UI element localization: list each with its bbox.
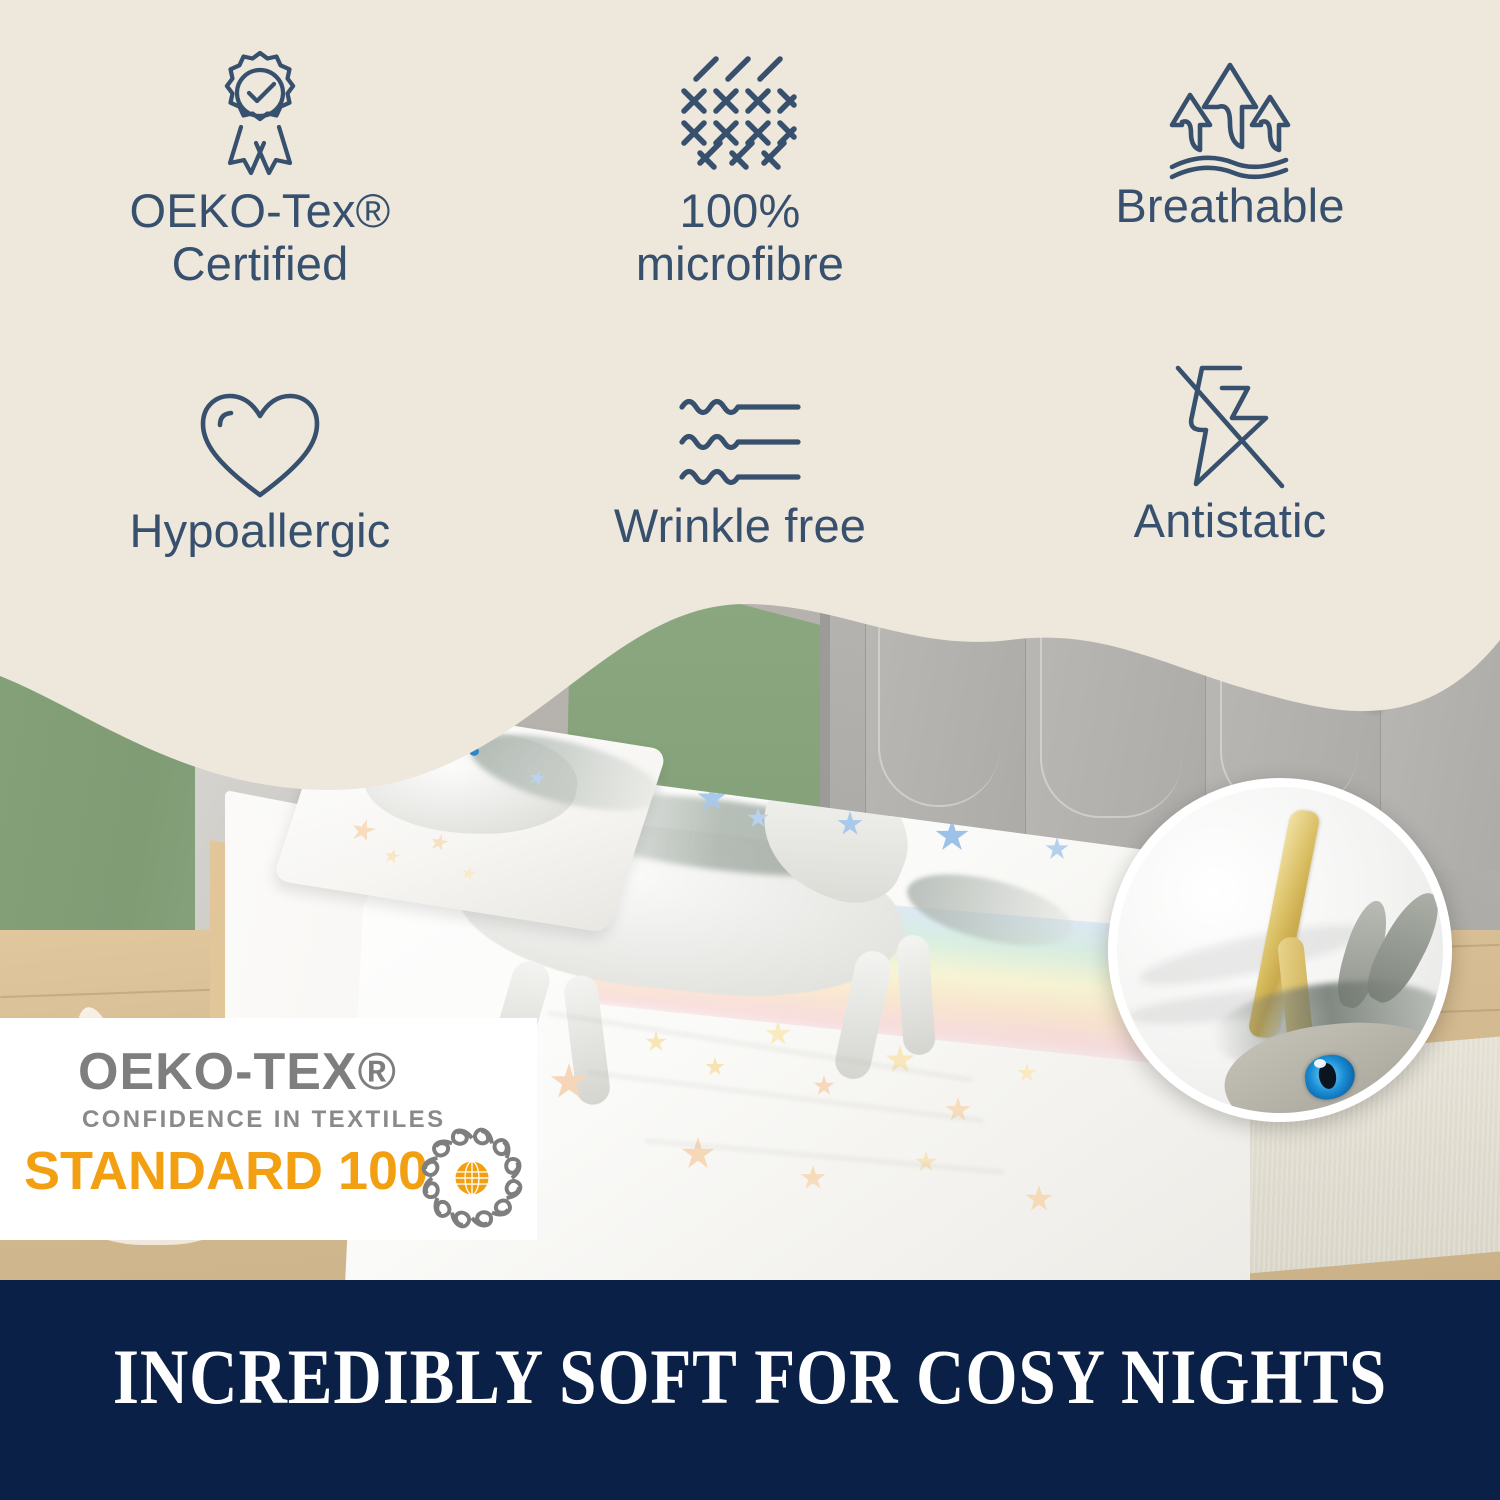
product-detail-zoom-circle — [1108, 778, 1452, 1122]
wrinkle-lines-icon — [670, 385, 810, 500]
badge-subtitle: CONFIDENCE IN TEXTILES — [82, 1106, 446, 1134]
oeko-tex-badge: OEKO-TEX® CONFIDENCE IN TEXTILES STANDAR… — [0, 1018, 537, 1240]
feature-label-line1: Breathable — [1115, 179, 1344, 232]
feature-label-line1: Wrinkle free — [614, 499, 866, 552]
feature-wrinkle-free: Wrinkle free — [520, 385, 960, 553]
breathable-arrows-icon — [1160, 55, 1300, 180]
no-lightning-icon — [1170, 360, 1290, 495]
feature-antistatic: Antistatic — [1010, 360, 1450, 548]
feature-label-line1: Hypoallergic — [129, 504, 390, 557]
oeko-tex-loop-globe-logo — [420, 1126, 524, 1230]
bottom-banner: INCREDIBLY SOFT FOR COSY NIGHTS — [0, 1280, 1500, 1500]
badge-standard: STANDARD 100 — [24, 1140, 428, 1202]
woven-fabric-icon — [670, 45, 810, 185]
feature-hypoallergenic: Hypoallergic — [40, 390, 480, 558]
feature-oeko-tex-certified: OEKO-Tex®Certified — [40, 45, 480, 290]
product-feature-graphic: OEKO-Tex®Certified 100%microfibre Breath — [0, 0, 1500, 1500]
heart-icon — [195, 390, 325, 505]
banner-headline: INCREDIBLY SOFT FOR COSY NIGHTS — [105, 1332, 1395, 1422]
feature-microfibre: 100%microfibre — [520, 45, 960, 290]
feature-label-line1: 100% — [679, 184, 800, 237]
badge-title: OEKO-TEX® — [78, 1042, 397, 1102]
feature-label-line2: Certified — [172, 237, 349, 290]
award-ribbon-icon — [205, 45, 315, 185]
feature-label-line1: OEKO-Tex® — [129, 184, 390, 237]
eye-highlight — [1314, 1059, 1326, 1068]
feature-label-line1: Antistatic — [1134, 494, 1327, 547]
feature-label-line2: microfibre — [636, 237, 844, 290]
feature-breathable: Breathable — [1010, 55, 1450, 233]
